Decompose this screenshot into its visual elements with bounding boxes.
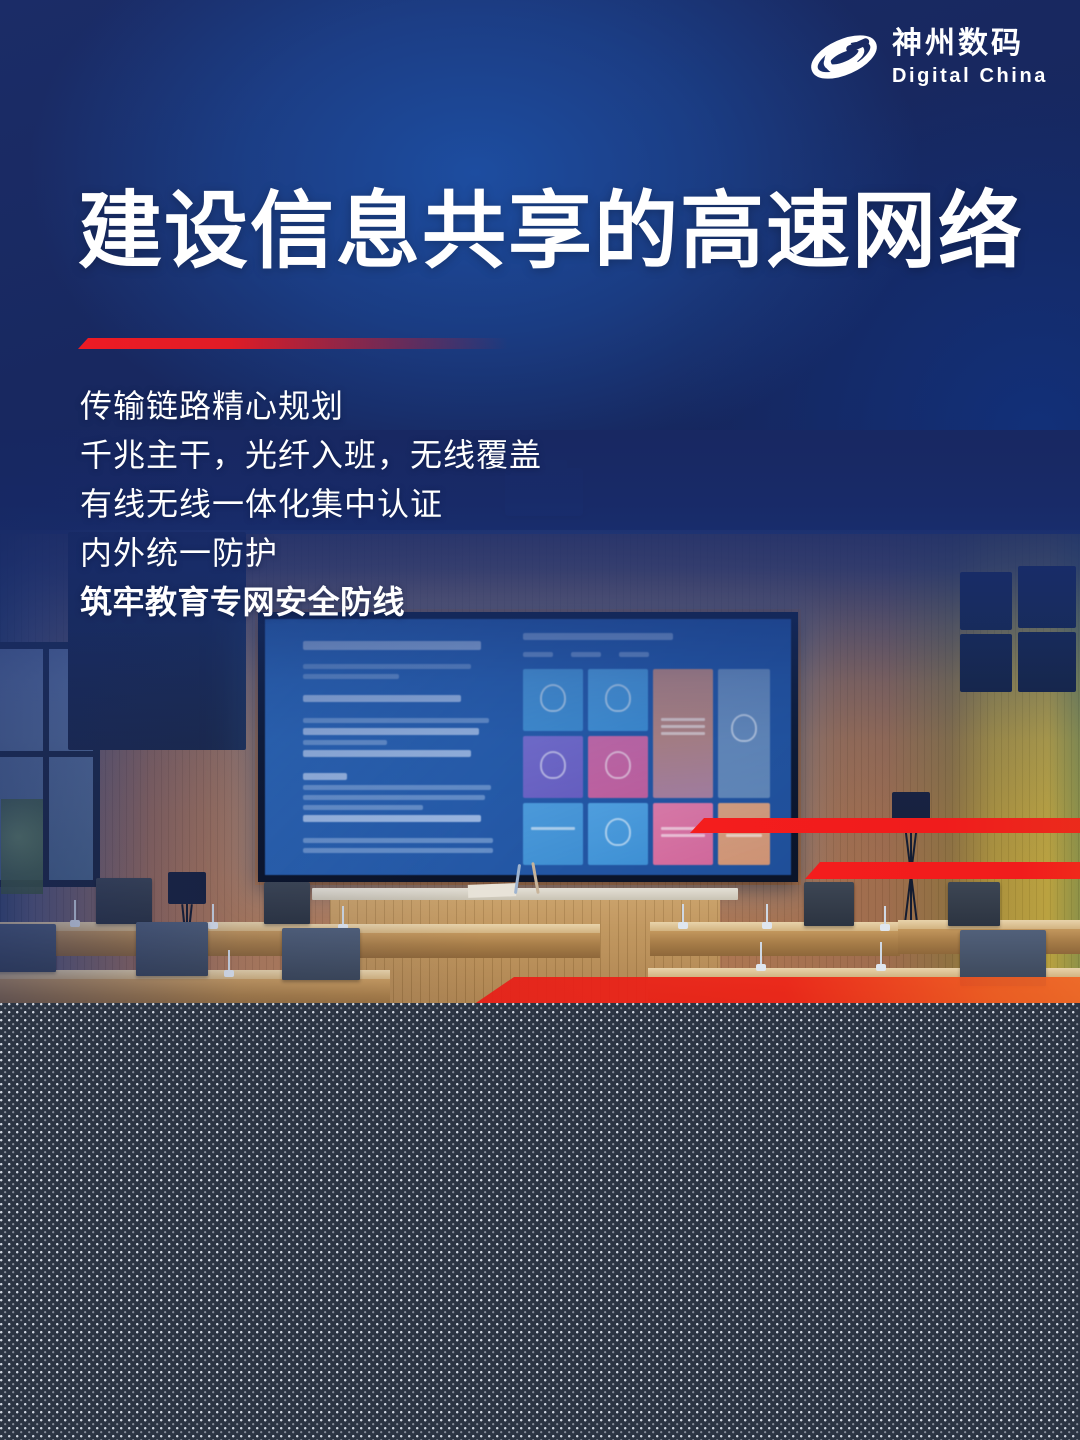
digital-china-swirl-logo xyxy=(808,26,880,88)
bullet-item-emphasis: 筑牢教育专网安全防线 xyxy=(80,578,542,627)
bullet-list: 传输链路精心规划 千兆主干，光纤入班，无线覆盖 有线无线一体化集中认证 内外统一… xyxy=(80,382,542,627)
poster-canvas: 神州数码 Digital China 建设信息共享的高速网络 传输链路精心规划 … xyxy=(0,0,1080,1440)
brand-name-en: Digital China xyxy=(892,66,1048,86)
brand-logo: 神州数码 Digital China xyxy=(808,26,1048,88)
bullet-item: 千兆主干，光纤入班，无线覆盖 xyxy=(80,431,542,480)
dotted-texture-panel xyxy=(0,1003,1080,1440)
brand-name-cn: 神州数码 xyxy=(892,29,1048,59)
bullet-item: 有线无线一体化集中认证 xyxy=(80,480,542,529)
brand-text: 神州数码 Digital China xyxy=(892,29,1048,86)
red-bar-photo-upper xyxy=(690,818,1080,833)
red-accent-divider xyxy=(78,338,508,349)
page-title: 建设信息共享的高速网络 xyxy=(78,186,1024,277)
bullet-item: 传输链路精心规划 xyxy=(80,382,542,431)
red-bar-photo-lower xyxy=(805,862,1080,879)
bullet-item: 内外统一防护 xyxy=(80,529,542,578)
